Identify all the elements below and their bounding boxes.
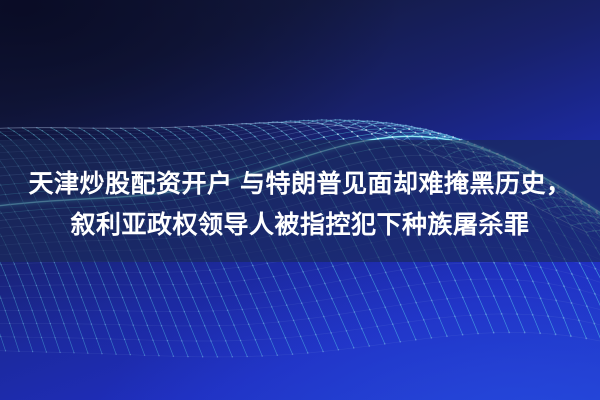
news-banner: 天津炒股配资开户 与特朗普见面却难掩黑历史， 叙利亚政权领导人被指控犯下种族屠杀…: [0, 0, 600, 400]
headline-line-2: 叙利亚政权领导人被指控犯下种族屠杀罪: [0, 205, 600, 246]
headline-line-1: 天津炒股配资开户 与特朗普见面却难掩黑历史，: [0, 164, 600, 205]
headline-block: 天津炒股配资开户 与特朗普见面却难掩黑历史， 叙利亚政权领导人被指控犯下种族屠杀…: [0, 164, 600, 246]
